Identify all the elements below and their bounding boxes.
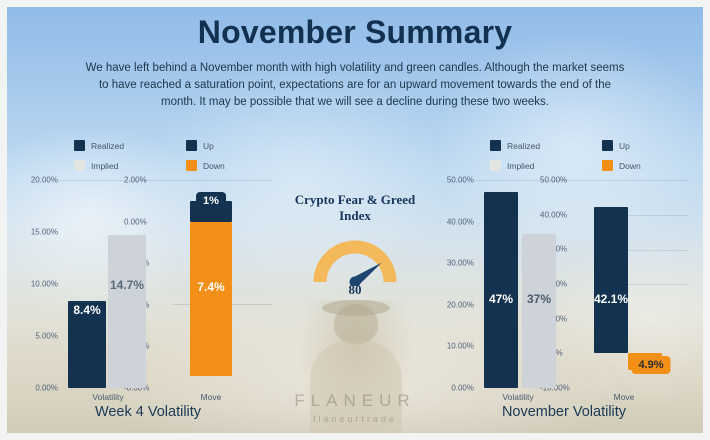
legend-swatch-implied <box>490 160 501 171</box>
axis-tick-label: 0.00% <box>451 384 474 393</box>
legend-swatch-implied <box>74 160 85 171</box>
legend-swatch-up <box>602 140 613 151</box>
axis-tick-label: 0.00% <box>124 217 147 226</box>
figure-body <box>310 340 402 440</box>
legend-item-realized: Realized <box>74 140 124 151</box>
axis-tick-label: 10.00% <box>31 280 58 289</box>
axis-tick-label: 40.00% <box>447 217 474 226</box>
bar-implied-volatility <box>108 235 146 388</box>
legend-swatch-down <box>186 160 197 171</box>
background-figure-silhouette <box>296 300 416 440</box>
plot-area-november: 50.00%40.00%30.00%20.00%10.00%0.00%50.00… <box>428 180 700 388</box>
bar-up-move <box>594 207 628 353</box>
axis-tick-label: 15.00% <box>31 228 58 237</box>
gauge-title: Crypto Fear & Greed Index <box>266 192 444 224</box>
gridline <box>476 180 688 181</box>
data-label-up: 1% <box>196 192 226 210</box>
axis-tick-label: 10.00% <box>447 342 474 351</box>
bar-implied-volatility <box>522 234 556 388</box>
axis-tick-label: 5.00% <box>35 332 58 341</box>
category-label: Volatility <box>502 392 533 402</box>
gauge-title-line1: Crypto Fear & Greed <box>266 192 444 208</box>
axis-tick-label: 0.00% <box>35 384 58 393</box>
gauge-title-line2: Index <box>266 208 444 224</box>
legend-item-up: Up <box>602 140 630 151</box>
legend-swatch-down <box>602 160 613 171</box>
axis-tick-label: 20.00% <box>447 300 474 309</box>
axis-tick-label: 20.00% <box>31 176 58 185</box>
figure-hat <box>322 300 390 316</box>
legend-label-up: Up <box>203 141 214 151</box>
gauge-arc-icon <box>266 228 444 286</box>
data-label-implied: 14.7% <box>110 278 144 292</box>
legend-swatch-up <box>186 140 197 151</box>
bar-down-move <box>190 222 232 376</box>
chart-title-november: November Volatility <box>428 404 700 420</box>
legend-label-down: Down <box>619 161 641 171</box>
legend-item-down: Down <box>602 160 641 171</box>
legend-label-implied: Implied <box>91 161 118 171</box>
plot-area-week4: 20.00%15.00%10.00%5.00%0.00%2.00%0.00%-2… <box>12 180 284 388</box>
category-label: Move <box>614 392 635 402</box>
chart-legend-week4: Realized Implied Up Down <box>58 138 284 180</box>
data-label-down: 7.4% <box>197 280 224 294</box>
legend-item-implied: Implied <box>74 160 118 171</box>
axis-tick-label: 50.00% <box>447 176 474 185</box>
chart-panel-week4: Realized Implied Up Down 20.00%15.00%10.… <box>12 138 284 430</box>
category-label: Move <box>201 392 222 402</box>
legend-item-up: Up <box>186 140 214 151</box>
legend-swatch-realized <box>74 140 85 151</box>
legend-item-implied: Implied <box>490 160 534 171</box>
data-label-implied: 37% <box>527 292 551 306</box>
data-label-up: 42.1% <box>594 292 628 306</box>
axis-tick-label: 40.00% <box>540 210 567 219</box>
legend-item-realized: Realized <box>490 140 540 151</box>
chart-title-week4: Week 4 Volatility <box>12 404 284 420</box>
legend-item-down: Down <box>186 160 225 171</box>
legend-label-realized: Realized <box>507 141 540 151</box>
legend-label-realized: Realized <box>91 141 124 151</box>
data-label-down: 4.9% <box>631 356 670 374</box>
chart-legend-november: Realized Implied Up Down <box>474 138 700 180</box>
infographic-canvas: November Summary We have left behind a N… <box>0 0 710 440</box>
legend-label-implied: Implied <box>507 161 534 171</box>
legend-swatch-realized <box>490 140 501 151</box>
gridline <box>60 180 272 181</box>
legend-label-down: Down <box>203 161 225 171</box>
gauge-dial <box>266 228 444 286</box>
legend-label-up: Up <box>619 141 630 151</box>
bar-realized-volatility <box>484 192 518 388</box>
data-label-realized: 47% <box>489 292 513 306</box>
axis-tick-label: 30.00% <box>447 259 474 268</box>
figure-head <box>334 304 378 344</box>
fear-greed-gauge: Crypto Fear & Greed Index 80 <box>266 192 444 302</box>
category-label: Volatility <box>92 392 123 402</box>
page-title: November Summary <box>0 14 710 51</box>
page-subtitle: We have left behind a November month wit… <box>85 60 625 111</box>
primary-axis-labels: 20.00%15.00%10.00%5.00%0.00% <box>12 180 58 388</box>
chart-panel-november: Realized Implied Up Down 50.00%40.00%30.… <box>428 138 700 430</box>
data-label-realized: 8.4% <box>73 303 100 317</box>
